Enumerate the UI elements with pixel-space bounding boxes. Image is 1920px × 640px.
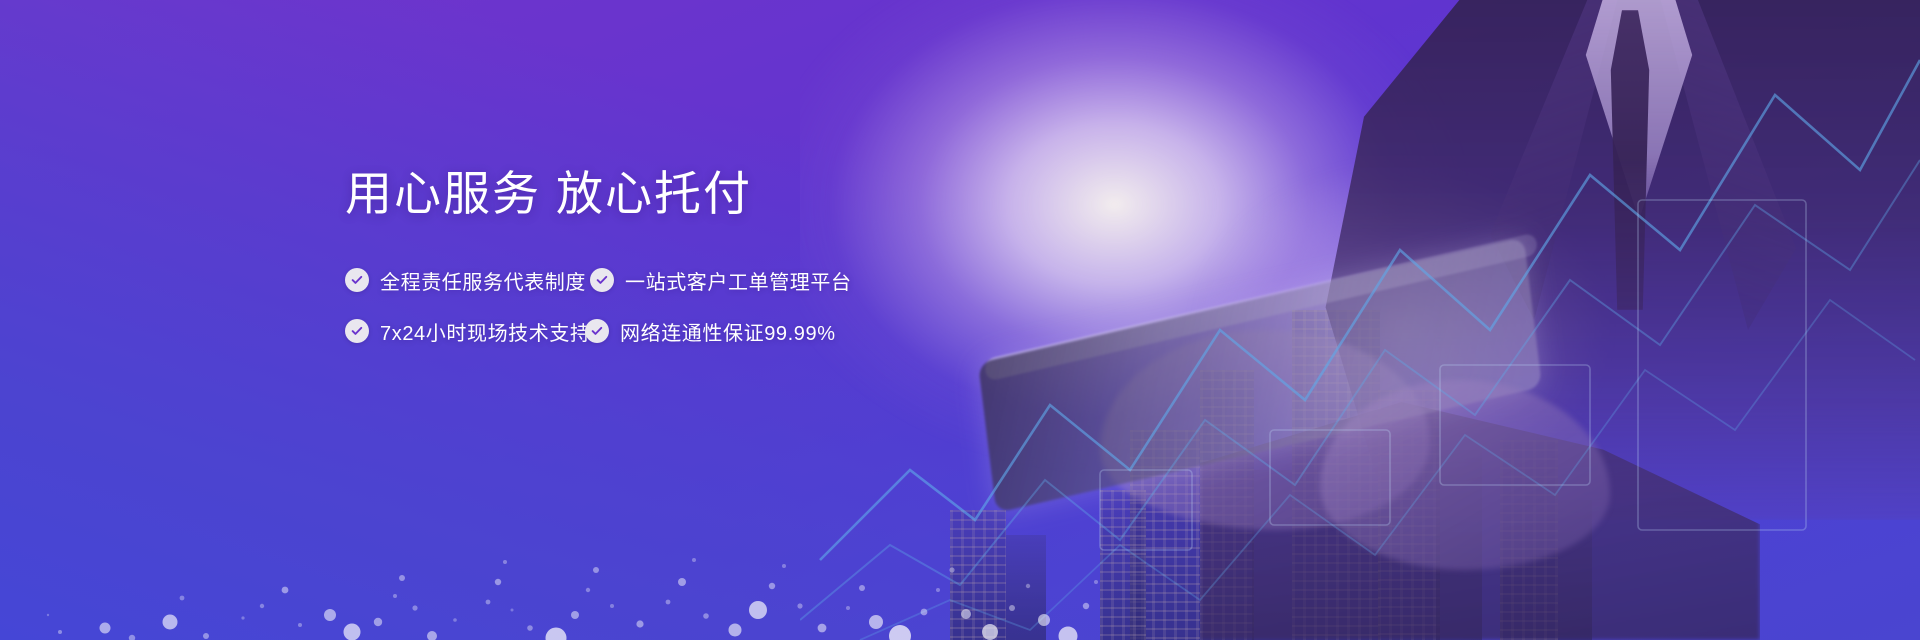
- feature-item: 全程责任服务代表制度: [345, 266, 590, 295]
- feature-label: 网络连通性保证99.99%: [620, 317, 836, 346]
- check-circle-icon: [590, 268, 614, 292]
- feature-list: 全程责任服务代表制度 一站式客户工单管理平台: [345, 266, 965, 346]
- feature-row: 全程责任服务代表制度 一站式客户工单管理平台: [345, 266, 965, 295]
- feature-label: 一站式客户工单管理平台: [625, 266, 852, 295]
- check-circle-icon: [345, 319, 369, 343]
- feature-item: 一站式客户工单管理平台: [590, 266, 852, 295]
- feature-label: 全程责任服务代表制度: [380, 266, 586, 295]
- dot-particle-field: [0, 410, 1100, 640]
- feature-item: 网络连通性保证99.99%: [585, 317, 836, 346]
- banner-title: 用心服务 放心托付: [345, 168, 965, 220]
- promo-banner: 用心服务 放心托付 全程责任服务代表制度: [0, 0, 1920, 640]
- feature-item: 7x24小时现场技术支持: [345, 317, 585, 346]
- banner-content: 用心服务 放心托付 全程责任服务代表制度: [345, 168, 965, 346]
- check-circle-icon: [345, 268, 369, 292]
- feature-row: 7x24小时现场技术支持 网络连通性保证99.99%: [345, 317, 965, 346]
- check-circle-icon: [585, 319, 609, 343]
- feature-label: 7x24小时现场技术支持: [380, 317, 591, 346]
